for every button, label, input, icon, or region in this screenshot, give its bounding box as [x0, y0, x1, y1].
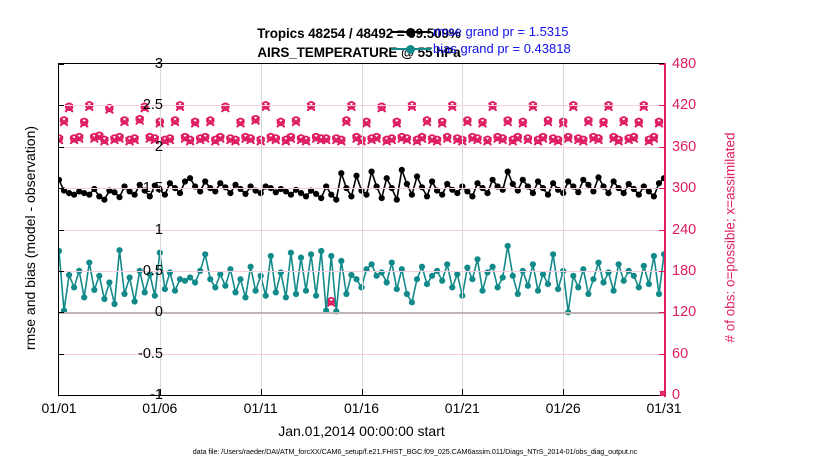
- x-tick-label: 01/06: [142, 400, 177, 416]
- data-point: [253, 288, 259, 294]
- data-point: [550, 251, 556, 257]
- data-point: [202, 251, 208, 257]
- data-point: [101, 296, 107, 302]
- data-point: [353, 276, 359, 282]
- data-point: [318, 248, 324, 254]
- data-point: [464, 265, 470, 271]
- data-point: [248, 264, 254, 270]
- data-point: [540, 271, 546, 277]
- data-point: [59, 177, 62, 183]
- y-tick-label-left: 1: [103, 222, 163, 238]
- data-point: [545, 192, 551, 198]
- data-point: [237, 276, 243, 282]
- data-point: [636, 284, 642, 290]
- data-point: [535, 288, 541, 294]
- data-point: [187, 274, 193, 280]
- x-tickmark: [563, 389, 564, 395]
- y-tickmark-right: [659, 64, 665, 65]
- chart-page: Tropics 48254 / 48492 = 99.509% AIRS_TEM…: [0, 0, 830, 470]
- data-point: [313, 293, 319, 299]
- data-point: [227, 190, 233, 196]
- data-point: [394, 286, 400, 292]
- x-tickmark: [362, 389, 363, 395]
- x-tickmark: [160, 389, 161, 395]
- x-tickmark: [462, 389, 463, 395]
- data-point: [273, 289, 279, 295]
- data-point: [479, 288, 485, 294]
- data-point: [424, 281, 430, 287]
- data-point: [555, 286, 561, 292]
- data-point: [535, 178, 541, 184]
- y-tick-label-left: 2.5: [103, 97, 163, 113]
- data-point: [288, 250, 294, 256]
- data-point: [424, 193, 430, 199]
- data-point: [86, 192, 92, 198]
- data-point: [414, 173, 420, 179]
- y-tick-label-left: 2: [103, 139, 163, 155]
- data-point: [308, 251, 314, 257]
- data-point: [449, 284, 455, 290]
- data-point: [182, 178, 188, 184]
- data-point: [605, 190, 611, 196]
- y-tickmark-right: [659, 188, 665, 189]
- data-point: [585, 182, 591, 188]
- data-point: [222, 283, 228, 289]
- data-point: [530, 190, 536, 196]
- data-point: [636, 192, 642, 198]
- data-point: [71, 192, 77, 198]
- data-point: [469, 193, 475, 199]
- y-tickmark-right: [659, 395, 665, 396]
- data-point: [444, 261, 450, 267]
- data-point: [429, 178, 435, 184]
- data-point: [328, 192, 334, 198]
- x-axis-label: Jan.01,2014 00:00:00 start: [58, 423, 665, 439]
- data-point: [454, 271, 460, 277]
- data-point: [177, 190, 183, 196]
- x-tickmark: [261, 389, 262, 395]
- data-point: [338, 170, 344, 176]
- data-point: [343, 291, 349, 297]
- y-tick-label-left: 3: [103, 56, 163, 72]
- y-tickmark-left: [58, 147, 64, 148]
- y-tick-label-left: 0: [103, 304, 163, 320]
- data-point: [621, 278, 627, 284]
- data-point: [263, 293, 269, 299]
- data-point: [595, 260, 601, 266]
- x-tick-label: 01/01: [41, 400, 76, 416]
- data-point: [71, 284, 77, 290]
- y-tickmark-left: [58, 230, 64, 231]
- x-tick-label: 01/16: [344, 400, 379, 416]
- data-point: [237, 186, 243, 192]
- data-point: [616, 261, 622, 267]
- data-point: [59, 248, 62, 254]
- y-tickmark-right: [659, 312, 665, 313]
- data-point: [575, 189, 581, 195]
- y-tickmark-right: [659, 354, 665, 355]
- y-tick-label-right: 120: [672, 304, 732, 320]
- legend-marker-icon: [406, 45, 415, 54]
- data-point: [510, 181, 516, 187]
- y-tickmark-left: [58, 354, 64, 355]
- data-point: [409, 299, 415, 305]
- data-point: [328, 253, 334, 259]
- x-tick-label: 01/31: [646, 400, 681, 416]
- data-point: [232, 289, 238, 295]
- data-point: [86, 260, 92, 266]
- data-point: [444, 181, 450, 187]
- data-point: [414, 276, 420, 282]
- data-point: [419, 264, 425, 270]
- data-point: [268, 253, 274, 259]
- data-point: [242, 294, 248, 300]
- data-point: [510, 273, 516, 279]
- data-point: [91, 186, 97, 192]
- data-point: [303, 288, 309, 294]
- data-point: [580, 177, 586, 183]
- data-point: [409, 192, 415, 198]
- data-point: [96, 193, 102, 199]
- data-point: [651, 193, 657, 199]
- data-point: [656, 180, 662, 186]
- legend-swatch-icon: [389, 25, 433, 39]
- data-point: [590, 188, 596, 194]
- data-point: [505, 169, 511, 175]
- data-point: [515, 291, 521, 297]
- data-point: [565, 178, 571, 184]
- y-tickmark-right: [659, 147, 665, 148]
- data-point: [96, 273, 102, 279]
- y-tickmark-right: [659, 271, 665, 272]
- data-point: [152, 293, 158, 299]
- data-point: [404, 291, 410, 297]
- data-point: [454, 190, 460, 196]
- y-tickmark-left: [58, 312, 64, 313]
- legend-label: bias grand pr = 0.43818: [433, 41, 571, 56]
- data-point: [369, 261, 375, 267]
- data-point: [192, 279, 198, 285]
- data-point: [333, 197, 339, 203]
- data-point: [303, 193, 309, 199]
- data-point: [369, 169, 375, 175]
- y-tick-label-right: 480: [672, 56, 732, 72]
- chart-legend: rmse grand pr = 1.5315bias grand pr = 0.…: [389, 21, 605, 59]
- y-tick-label-right: 180: [672, 263, 732, 279]
- data-point: [389, 260, 395, 266]
- data-point: [505, 243, 511, 249]
- data-point: [520, 177, 526, 183]
- data-point: [142, 289, 148, 295]
- data-point: [197, 188, 203, 194]
- data-point: [631, 186, 637, 192]
- y-tickmark-left: [58, 395, 64, 396]
- data-point: [167, 180, 173, 186]
- y-tick-label-right: 360: [672, 139, 732, 155]
- data-point: [626, 181, 632, 187]
- data-point: [585, 291, 591, 297]
- data-point: [379, 195, 385, 201]
- y-tickmark-left: [58, 271, 64, 272]
- data-point: [313, 191, 319, 197]
- data-point: [116, 247, 122, 253]
- data-point: [232, 182, 238, 188]
- y-tickmark-left: [58, 188, 64, 189]
- data-point: [217, 180, 223, 186]
- legend-swatch-icon: [389, 42, 433, 56]
- data-point: [611, 288, 617, 294]
- data-point: [656, 291, 662, 297]
- legend-marker-icon: [406, 28, 415, 37]
- y-axis-label-left: rmse and bias (model - observation): [22, 73, 38, 403]
- data-point: [439, 278, 445, 284]
- data-point: [212, 188, 218, 194]
- y-tick-label-left: -0.5: [103, 346, 163, 362]
- data-point: [490, 264, 496, 270]
- data-point: [394, 197, 400, 203]
- data-point: [348, 272, 354, 278]
- data-point: [363, 192, 369, 198]
- data-point: [353, 173, 359, 179]
- data-point: [348, 193, 354, 199]
- data-point: [202, 178, 208, 184]
- data-point: [525, 283, 531, 289]
- data-point: [474, 256, 480, 262]
- data-point: [293, 291, 299, 297]
- y-tick-label-left: 1.5: [103, 180, 163, 196]
- data-point: [570, 273, 576, 279]
- data-point: [404, 181, 410, 187]
- data-point: [162, 286, 168, 292]
- data-point: [374, 273, 380, 279]
- y-tickmark-right: [659, 105, 665, 106]
- data-point: [611, 178, 617, 184]
- data-point: [530, 261, 536, 267]
- legend-label: rmse grand pr = 1.5315: [433, 24, 569, 39]
- x-tick-label: 01/26: [546, 400, 581, 416]
- data-point: [646, 281, 652, 287]
- data-point: [399, 167, 405, 173]
- data-point: [600, 279, 606, 285]
- data-point: [651, 253, 657, 259]
- data-point: [212, 284, 218, 290]
- data-point: [384, 279, 390, 285]
- data-point: [384, 175, 390, 181]
- y-tick-label-right: 60: [672, 346, 732, 362]
- data-point: [121, 291, 127, 297]
- data-point: [429, 273, 435, 279]
- data-point: [66, 272, 72, 278]
- data-point: [641, 263, 647, 269]
- data-file-caption: data file: /Users/raeder/DAI/ATM_forcXX/…: [0, 447, 830, 456]
- data-point: [495, 284, 501, 290]
- data-point: [545, 281, 551, 287]
- data-point: [207, 276, 213, 282]
- y-tickmark-left: [58, 105, 64, 106]
- y-tick-label-right: 300: [672, 180, 732, 196]
- y-tick-label-right: 420: [672, 97, 732, 113]
- data-point: [187, 175, 193, 181]
- data-point: [646, 188, 652, 194]
- page-title: Tropics 48254 / 48492 = 99.509%: [0, 24, 718, 43]
- legend-item-rmse[interactable]: rmse grand pr = 1.5315: [389, 23, 605, 40]
- y-tick-label-right: 240: [672, 222, 732, 238]
- data-point: [469, 276, 475, 282]
- data-point: [81, 294, 87, 300]
- data-point: [318, 195, 324, 201]
- legend-item-bias[interactable]: bias grand pr = 0.43818: [389, 40, 605, 57]
- y-tickmark-right: [659, 230, 665, 231]
- x-tick-label: 01/11: [244, 400, 278, 416]
- data-point: [217, 271, 223, 277]
- y-tickmark-left: [58, 64, 64, 65]
- data-point: [288, 192, 294, 198]
- data-point: [621, 190, 627, 196]
- data-point: [590, 276, 596, 282]
- data-point: [484, 190, 490, 196]
- data-point: [474, 180, 480, 186]
- data-point: [172, 288, 178, 294]
- data-point: [298, 255, 304, 261]
- x-tick-label: 01/21: [445, 400, 480, 416]
- y-tick-label-left: 0.5: [103, 263, 163, 279]
- data-point: [490, 177, 496, 183]
- data-point: [595, 174, 601, 180]
- data-point: [182, 278, 188, 284]
- data-point: [338, 258, 344, 264]
- data-point: [91, 287, 97, 293]
- data-point: [550, 180, 556, 186]
- data-point: [283, 294, 289, 300]
- data-point: [575, 284, 581, 290]
- data-point: [242, 191, 248, 197]
- data-point: [631, 273, 637, 279]
- data-point: [500, 274, 506, 280]
- data-point: [101, 197, 107, 203]
- data-point: [464, 188, 470, 194]
- data-point: [106, 279, 112, 285]
- data-point: [439, 192, 445, 198]
